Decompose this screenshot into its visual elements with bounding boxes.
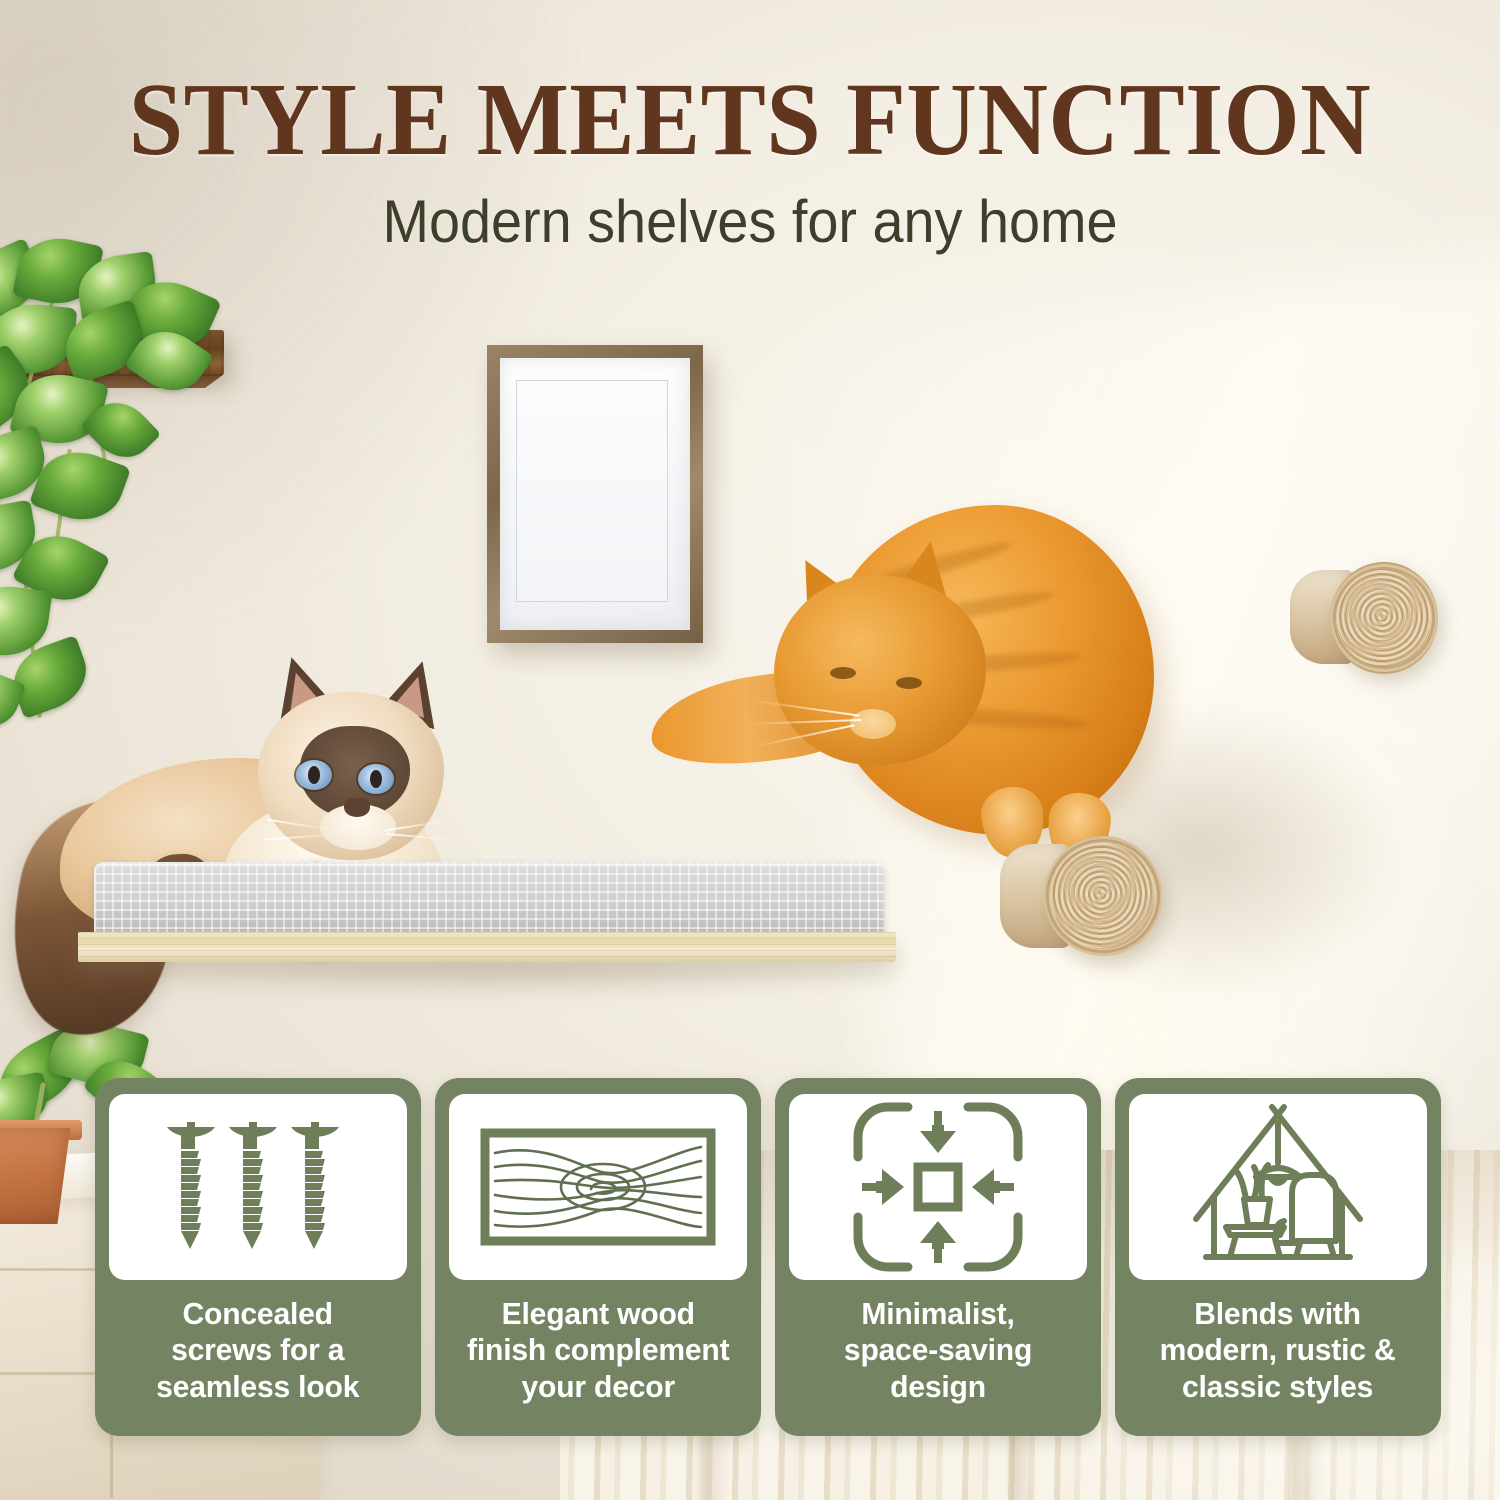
page-title: STYLE MEETS FUNCTION (45, 68, 1455, 172)
feature-card-label: Minimalist, space-saving design (844, 1296, 1032, 1405)
feature-card-space-saving[interactable]: Minimalist, space-saving design (775, 1078, 1101, 1436)
screws-icon (109, 1094, 407, 1280)
product-infographic-poster: STYLE MEETS FUNCTION Modern shelves for … (0, 0, 1500, 1500)
page-subtitle: Modern shelves for any home (53, 192, 1448, 252)
feature-card-blends-styles[interactable]: Blends with modern, rustic & classic sty… (1115, 1078, 1441, 1436)
sisal-step-lower (1000, 836, 1170, 960)
feature-card-label: Blends with modern, rustic & classic sty… (1160, 1296, 1396, 1405)
picture-frame (487, 345, 703, 643)
feature-cards-row: Concealed screws for a seamless look (95, 1078, 1450, 1440)
ragdoll-cat (8, 648, 478, 1048)
sisal-rope-face (1330, 562, 1438, 674)
cat-nose (344, 798, 370, 817)
cat-eye-left (830, 667, 856, 679)
sisal-rope-face (1044, 836, 1162, 956)
feature-card-wood-finish[interactable]: Elegant wood finish complement your deco… (435, 1078, 761, 1436)
frame-inner-border (516, 380, 668, 602)
terracotta-pot (0, 1128, 74, 1224)
frame-mat (500, 358, 690, 630)
cat-eye-right (358, 764, 394, 794)
cat-eye-right (896, 677, 922, 689)
space-saving-icon (789, 1094, 1087, 1280)
plywood-layers (78, 932, 896, 962)
feature-card-label: Elegant wood finish complement your deco… (467, 1296, 729, 1405)
cat-eye-left (296, 760, 332, 790)
feature-card-label: Concealed screws for a seamless look (156, 1296, 359, 1405)
shelf-wood-board (78, 932, 896, 962)
feature-card-concealed-screws[interactable]: Concealed screws for a seamless look (95, 1078, 421, 1436)
sisal-step-upper (1290, 562, 1450, 678)
wood-grain-icon (449, 1094, 747, 1280)
home-interior-icon (1129, 1094, 1427, 1280)
